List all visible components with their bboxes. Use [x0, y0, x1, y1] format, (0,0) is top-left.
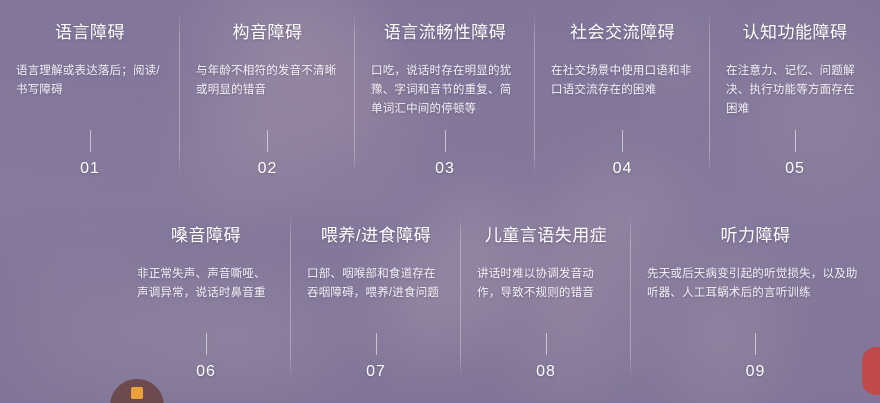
card-description: 口吃，说话时存在明显的犹豫、字词和音节的重复、简单词汇中间的停顿等: [371, 62, 519, 119]
card-description: 非正常失声、声音嘶哑、声调异常，说话时鼻音重: [137, 265, 275, 303]
card-title: 语言障碍: [16, 22, 164, 44]
card-description: 在社交场景中使用口语和非口语交流存在的困难: [551, 62, 694, 100]
card-title: 嗓音障碍: [137, 225, 275, 247]
card-number: 09: [631, 363, 880, 381]
tick-mark-icon: [755, 333, 756, 355]
tick-mark-icon: [267, 130, 268, 152]
card-08[interactable]: 儿童言语失用症 讲话时难以协调发音动作，导致不规则的错音 08: [461, 203, 631, 403]
card-number: 08: [461, 363, 631, 381]
card-footer: 07: [291, 333, 461, 381]
cards-row-top: 语言障碍 语言理解或表达落后；阅读/书写障碍 01 构音障碍 与年龄不相符的发音…: [0, 0, 880, 200]
cards-row-bottom: 嗓音障碍 非正常失声、声音嘶哑、声调异常，说话时鼻音重 06 喂养/进食障碍 口…: [0, 203, 880, 403]
card-footer: 03: [355, 130, 535, 178]
tick-mark-icon: [206, 333, 207, 355]
tick-mark-icon: [546, 333, 547, 355]
card-title: 构音障碍: [196, 22, 339, 44]
card-footer: 05: [710, 130, 880, 178]
card-description: 与年龄不相符的发音不清晰或明显的错音: [196, 62, 339, 100]
card-title: 认知功能障碍: [726, 22, 864, 44]
card-07[interactable]: 喂养/进食障碍 口部、咽喉部和食道存在吞咽障碍，喂养/进食问题 07: [291, 203, 461, 403]
tick-mark-icon: [445, 130, 446, 152]
card-number: 07: [291, 363, 461, 381]
card-description: 先天或后天病变引起的听觉损失，以及助听器、人工耳蜗术后的言听训练: [647, 265, 864, 303]
card-number: 04: [535, 160, 710, 178]
card-footer: 04: [535, 130, 710, 178]
card-title: 听力障碍: [647, 225, 864, 247]
card-description: 讲话时难以协调发音动作，导致不规则的错音: [477, 265, 615, 303]
card-footer: 06: [121, 333, 291, 381]
card-number: 02: [180, 160, 355, 178]
card-01[interactable]: 语言障碍 语言理解或表达落后；阅读/书写障碍 01: [0, 0, 180, 200]
card-description: 口部、咽喉部和食道存在吞咽障碍，喂养/进食问题: [307, 265, 445, 303]
card-footer: 01: [0, 130, 180, 178]
card-title: 喂养/进食障碍: [307, 225, 445, 247]
card-04[interactable]: 社会交流障碍 在社交场景中使用口语和非口语交流存在的困难 04: [535, 0, 710, 200]
card-description: 在注意力、记忆、问题解决、执行功能等方面存在困难: [726, 62, 864, 119]
tick-mark-icon: [376, 333, 377, 355]
card-09[interactable]: 听力障碍 先天或后天病变引起的听觉损失，以及助听器、人工耳蜗术后的言听训练 09: [631, 203, 880, 403]
cards-container: 语言障碍 语言理解或表达落后；阅读/书写障碍 01 构音障碍 与年龄不相符的发音…: [0, 0, 880, 403]
slide-root: 语言障碍 语言理解或表达落后；阅读/书写障碍 01 构音障碍 与年龄不相符的发音…: [0, 0, 880, 403]
tick-mark-icon: [90, 130, 91, 152]
card-footer: 02: [180, 130, 355, 178]
card-number: 01: [0, 160, 180, 178]
card-title: 儿童言语失用症: [477, 225, 615, 247]
card-03[interactable]: 语言流畅性障碍 口吃，说话时存在明显的犹豫、字词和音节的重复、简单词汇中间的停顿…: [355, 0, 535, 200]
card-title: 语言流畅性障碍: [371, 22, 519, 44]
card-number: 05: [710, 160, 880, 178]
card-number: 03: [355, 160, 535, 178]
card-footer: 09: [631, 333, 880, 381]
card-footer: 08: [461, 333, 631, 381]
card-number: 06: [121, 363, 291, 381]
card-description: 语言理解或表达落后；阅读/书写障碍: [16, 62, 164, 100]
tick-mark-icon: [622, 130, 623, 152]
card-06[interactable]: 嗓音障碍 非正常失声、声音嘶哑、声调异常，说话时鼻音重 06: [121, 203, 291, 403]
row-left-spacer: [0, 203, 121, 403]
card-05[interactable]: 认知功能障碍 在注意力、记忆、问题解决、执行功能等方面存在困难 05: [710, 0, 880, 200]
card-title: 社会交流障碍: [551, 22, 694, 44]
tick-mark-icon: [795, 130, 796, 152]
card-02[interactable]: 构音障碍 与年龄不相符的发音不清晰或明显的错音 02: [180, 0, 355, 200]
